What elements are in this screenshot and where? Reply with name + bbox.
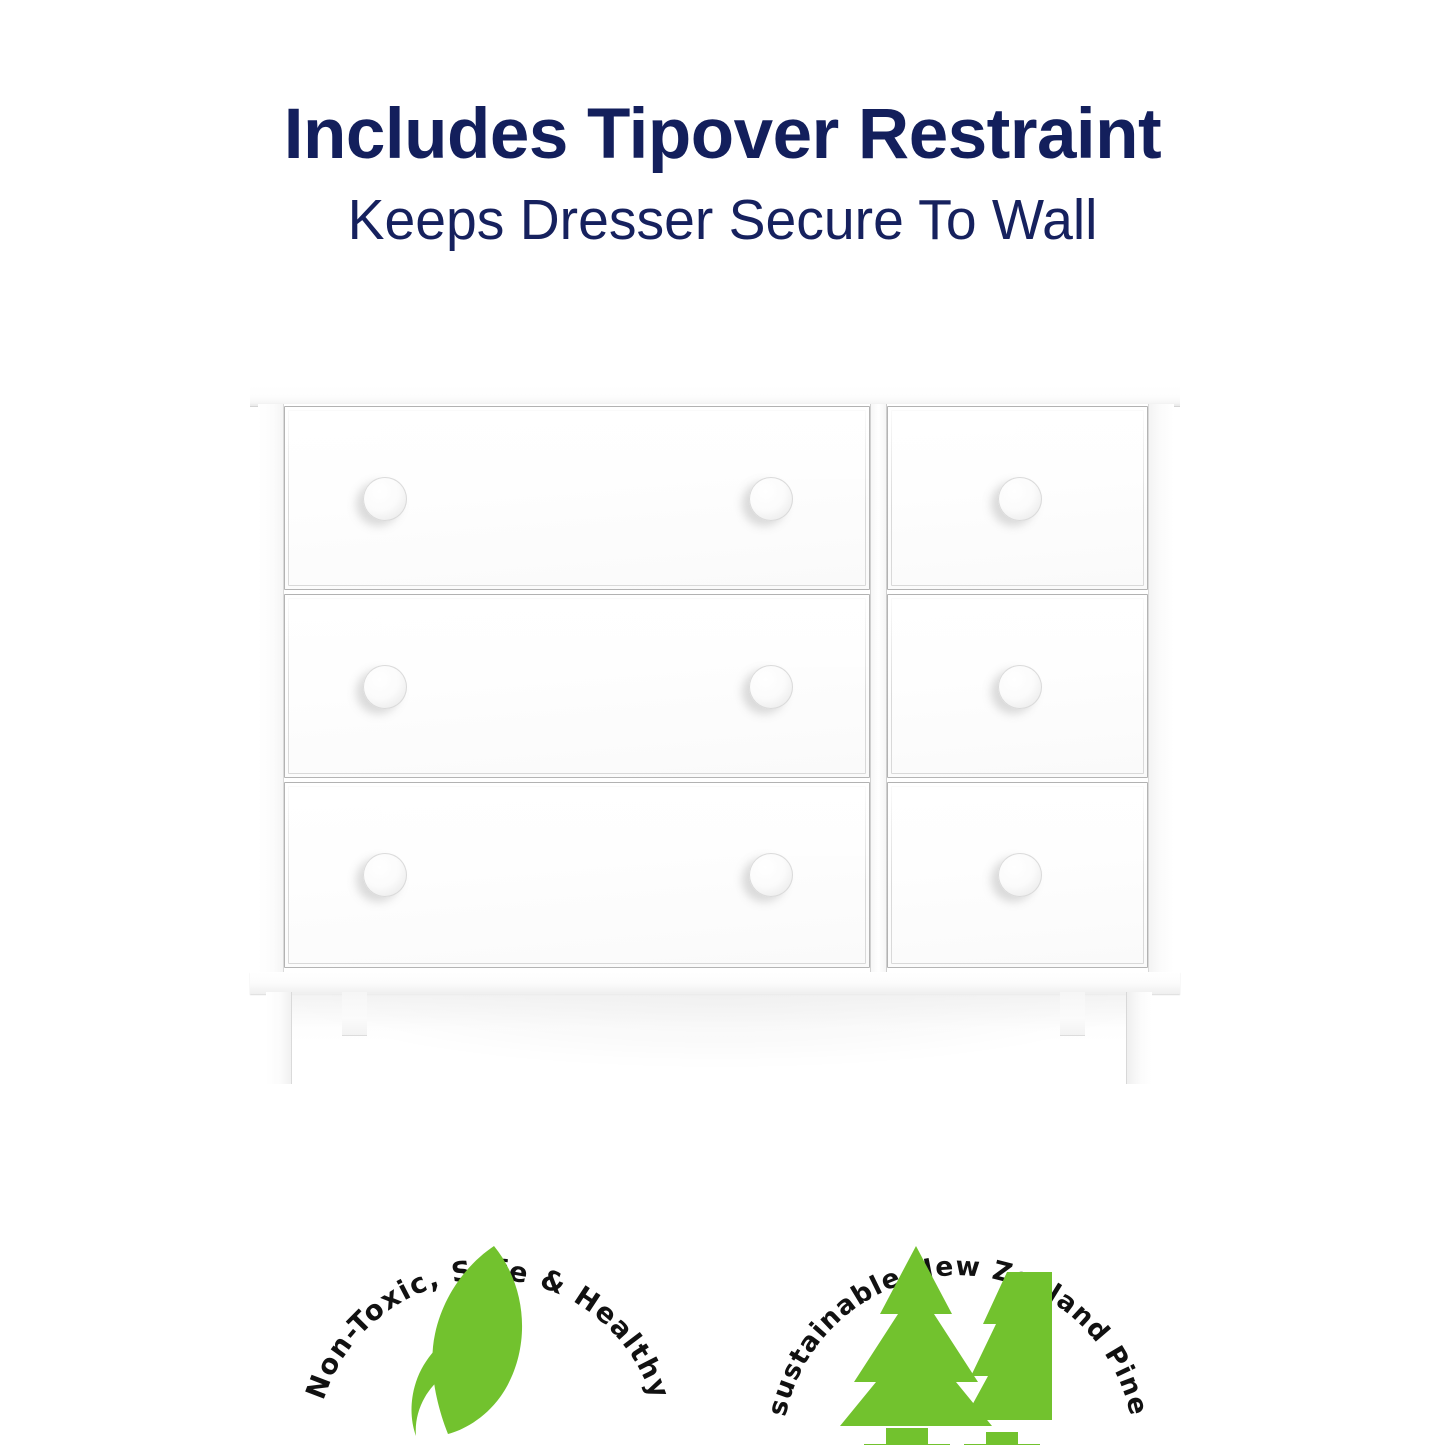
drawer-knob-icon <box>363 853 407 897</box>
non-toxic-badge: Non-Toxic, Safe & Healthy <box>298 1138 678 1438</box>
drawer-knob-icon <box>749 665 793 709</box>
dresser-right-column <box>887 404 1148 974</box>
dresser-center-stile <box>870 404 887 974</box>
drawer-knob-icon <box>749 477 793 521</box>
drawer-knob-icon <box>363 665 407 709</box>
dresser-left-side-panel <box>258 404 284 974</box>
dresser-base-rail <box>250 972 1180 994</box>
sustainable-pine-badge: sustainable New Zealand Pine <box>768 1138 1148 1438</box>
dresser-left-column <box>284 404 870 974</box>
dresser-leg-front-left <box>266 992 292 1084</box>
page-subtitle: Keeps Dresser Secure To Wall <box>22 174 1424 252</box>
product-feature-graphic: Includes Tipover Restraint Keeps Dresser… <box>0 0 1445 1445</box>
dresser-illustration <box>250 386 1190 1086</box>
dresser-leg-front-right <box>1126 992 1152 1084</box>
table-row <box>887 782 1148 968</box>
dresser-leg-rear-right <box>1060 992 1085 1036</box>
dresser-leg-rear-left <box>342 992 367 1036</box>
drawer-knob-icon <box>998 853 1042 897</box>
table-row <box>284 406 870 590</box>
table-row <box>284 594 870 778</box>
table-row <box>887 594 1148 778</box>
table-row <box>887 406 1148 590</box>
dresser-top-panel <box>250 386 1180 406</box>
drawer-knob-icon <box>749 853 793 897</box>
drawer-knob-icon <box>998 665 1042 709</box>
dresser-right-side-panel <box>1148 404 1174 974</box>
headline-block: Includes Tipover Restraint Keeps Dresser… <box>0 96 1445 252</box>
page-title: Includes Tipover Restraint <box>0 96 1445 174</box>
table-row <box>284 782 870 968</box>
drawer-knob-icon <box>998 477 1042 521</box>
dresser-carcass <box>258 404 1174 974</box>
dresser-apron-shadow <box>292 992 1126 1044</box>
drawer-knob-icon <box>363 477 407 521</box>
